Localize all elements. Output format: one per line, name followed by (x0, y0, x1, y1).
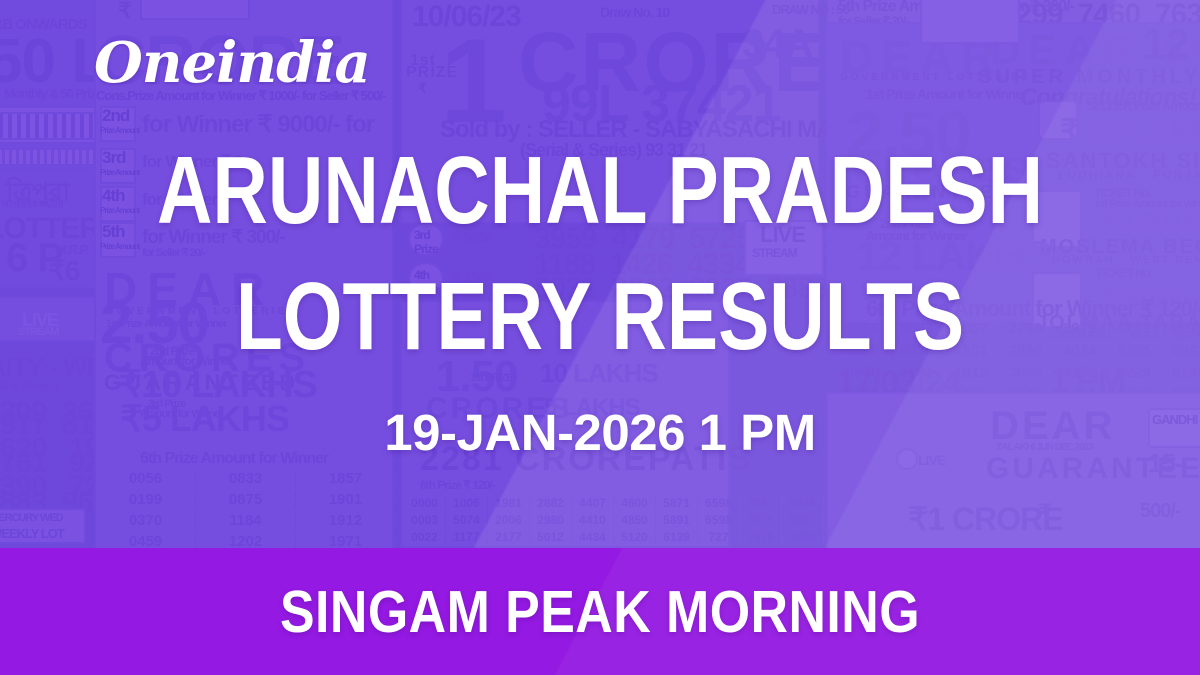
draw-name-banner: SINGAM PEAK MORNING (0, 548, 1200, 675)
page-title-line-2: LOTTERY RESULTS (120, 254, 1080, 380)
draw-name-label: SINGAM PEAK MORNING (72, 548, 1128, 675)
page-title-line-1: ARUNACHAL PRADESH (120, 128, 1080, 254)
page-title: ARUNACHAL PRADESH LOTTERY RESULTS (120, 128, 1080, 380)
oneindia-logo[interactable]: Oneindia (94, 32, 370, 94)
draw-datetime: 19-JAN-2026 1 PM (0, 404, 1200, 462)
lottery-result-poster: P.B ONWARDS 50 LAKHS Monthly & 50 Prizes… (0, 0, 1200, 675)
